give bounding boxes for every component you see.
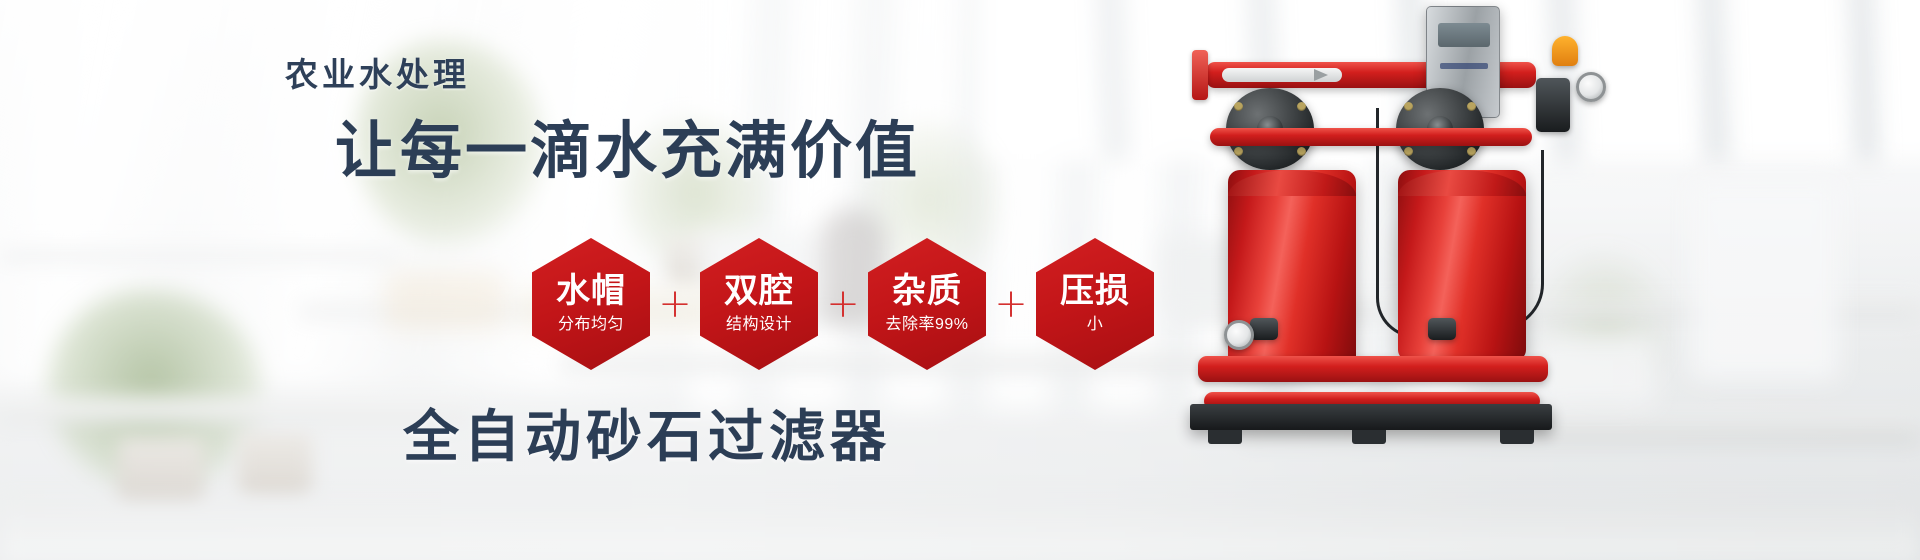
equipment-base xyxy=(1190,404,1552,430)
product-image-sand-filter xyxy=(1180,0,1740,540)
badge-subtitle: 去除率99% xyxy=(885,315,968,334)
pressure-gauge-icon xyxy=(1224,320,1254,350)
badge-subtitle: 分布均匀 xyxy=(558,315,624,334)
badge-subtitle: 小 xyxy=(1087,315,1104,334)
plus-separator-icon: + xyxy=(820,284,866,324)
pressure-gauge-icon xyxy=(1576,72,1606,102)
feature-badge-3: 杂质 去除率99% xyxy=(868,238,986,370)
plus-separator-icon: + xyxy=(652,284,698,324)
feature-badge-row: 水帽 分布均匀 + 双腔 结构设计 + 杂质 去除率99% + 压损 小 xyxy=(530,238,1156,370)
plus-separator-icon: + xyxy=(988,284,1034,324)
banner-headline: 让每一滴水充满价值 xyxy=(335,100,920,190)
flow-arrow-icon xyxy=(1222,68,1342,82)
feature-badge-1: 水帽 分布均匀 xyxy=(532,238,650,370)
promo-banner: 农业水处理 让每一滴水充满价值 水帽 分布均匀 + 双腔 结构设计 + 杂质 去… xyxy=(0,0,1920,560)
badge-title: 压损 xyxy=(1060,274,1130,310)
badge-subtitle: 结构设计 xyxy=(726,315,792,334)
badge-title: 杂质 xyxy=(892,274,962,310)
badge-title: 水帽 xyxy=(556,274,626,310)
banner-tagline: 全自动砂石过滤器 xyxy=(403,392,891,473)
badge-title: 双腔 xyxy=(724,274,794,310)
filter-tank xyxy=(1398,170,1526,360)
banner-eyebrow: 农业水处理 xyxy=(285,48,470,96)
feature-badge-4: 压损 小 xyxy=(1036,238,1154,370)
feature-badge-2: 双腔 结构设计 xyxy=(700,238,818,370)
banner-text-block: 农业水处理 让每一滴水充满价值 水帽 分布均匀 + 双腔 结构设计 + 杂质 去… xyxy=(0,0,1180,560)
